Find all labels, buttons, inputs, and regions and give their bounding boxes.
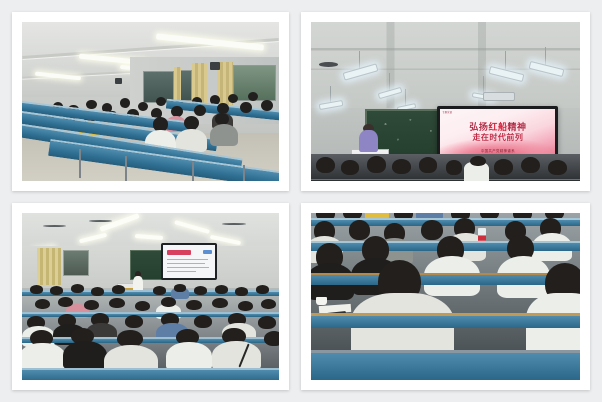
student-head <box>138 102 148 112</box>
desk-leg <box>192 162 194 181</box>
desk-row-front <box>22 368 279 380</box>
desk-row <box>311 273 580 285</box>
desk-row-front <box>311 313 580 328</box>
student-head <box>421 220 443 240</box>
photo-top-right: 专题党课 弘扬红船精神 走在时代前列 中国共产党精神谱系 <box>311 22 580 181</box>
student-head <box>174 284 187 292</box>
ceiling-fan <box>319 62 338 67</box>
student-body <box>212 341 261 371</box>
student-head <box>161 297 176 308</box>
student-head <box>238 301 253 312</box>
student-head <box>35 299 50 310</box>
student-head <box>235 287 248 296</box>
slide-subline: 走在时代前列 <box>440 132 555 143</box>
slide-headline-highlight: 红船 <box>488 122 507 132</box>
student-head <box>194 105 206 116</box>
slide-title-band <box>167 250 191 255</box>
student-head <box>341 160 360 175</box>
student-head <box>548 160 567 175</box>
photo-top-left <box>22 22 279 181</box>
student-head <box>261 299 276 310</box>
student-head <box>446 160 462 174</box>
student-head <box>215 285 228 294</box>
student-body <box>166 342 212 371</box>
student-head <box>194 286 207 295</box>
desk-leg <box>79 149 81 178</box>
slide-headline-part2: 精神 <box>507 122 526 132</box>
student-head <box>212 298 227 309</box>
audience-silhouettes <box>311 154 580 181</box>
student-body <box>63 341 107 370</box>
student-head <box>186 300 201 311</box>
photo-card-bottom-right[interactable] <box>301 203 590 390</box>
student-head <box>261 100 273 111</box>
desk-row <box>311 179 580 180</box>
window <box>63 250 89 277</box>
student-head <box>184 116 199 130</box>
ceiling-fan <box>43 225 66 227</box>
photo-card-bottom-left[interactable] <box>12 203 289 390</box>
student-head <box>419 157 438 173</box>
student-head <box>521 157 540 174</box>
light-rod <box>330 86 331 103</box>
student-head <box>156 97 166 107</box>
light-rod <box>405 89 406 106</box>
photo-collage: 专题党课 弘扬红船精神 走在时代前列 中国共产党精神谱系 <box>0 0 602 402</box>
curtain <box>37 248 60 285</box>
projector <box>483 92 515 102</box>
slide-text-line <box>167 263 205 265</box>
slide-content: 专题党课 弘扬红船精神 走在时代前列 中国共产党精神谱系 <box>440 109 555 155</box>
student-head <box>470 156 486 167</box>
projector-screen[interactable] <box>161 243 218 280</box>
student-head <box>256 285 269 294</box>
slide-content <box>163 245 216 278</box>
desk-leg <box>243 165 245 181</box>
photo-bottom-right <box>311 213 580 380</box>
slide-top-label: 专题党课 <box>442 110 452 114</box>
student-head <box>120 98 130 108</box>
student-head <box>392 159 411 174</box>
student-head <box>125 315 143 328</box>
projector-screen[interactable]: 专题党课 弘扬红船精神 走在时代前列 中国共产党精神谱系 <box>437 106 558 158</box>
light-rod <box>505 51 506 72</box>
bench-front <box>311 350 580 380</box>
student-head <box>494 159 513 175</box>
student-head <box>84 300 99 311</box>
student-head <box>258 316 276 329</box>
photo-card-top-right[interactable]: 专题党课 弘扬红船精神 走在时代前列 中国共产党精神谱系 <box>301 12 590 191</box>
audience-crowd <box>22 283 279 380</box>
ceiling-fan <box>222 223 245 225</box>
student-head <box>367 156 386 173</box>
student-head <box>153 286 166 295</box>
wall-speaker <box>210 62 220 70</box>
student-head <box>135 301 150 312</box>
student-head <box>91 287 104 296</box>
speaker-person <box>359 130 378 152</box>
photo-card-top-left[interactable] <box>12 12 289 191</box>
slide-text-line <box>167 259 208 261</box>
desk-leg <box>125 156 127 181</box>
student-head <box>71 284 84 293</box>
student-head <box>240 102 252 113</box>
student-head <box>194 315 212 328</box>
slide-headline-part1: 弘扬 <box>469 122 488 132</box>
wall-speaker <box>115 78 123 84</box>
student-head <box>264 331 279 346</box>
slide-text-line <box>167 271 196 273</box>
slide-footer: 中国共产党精神谱系 <box>440 148 555 153</box>
student-head <box>112 285 125 294</box>
student-head <box>349 220 371 240</box>
slide-tag <box>203 250 212 254</box>
student-head <box>109 298 124 309</box>
student-head <box>30 285 43 294</box>
student-body <box>210 124 238 146</box>
ceiling-fan <box>89 220 112 222</box>
student-head <box>50 286 63 295</box>
student-head <box>316 157 335 173</box>
paper-cup <box>316 297 327 305</box>
slide-text-line <box>167 267 209 269</box>
student-head <box>228 94 238 104</box>
photo-bottom-left <box>22 213 279 380</box>
